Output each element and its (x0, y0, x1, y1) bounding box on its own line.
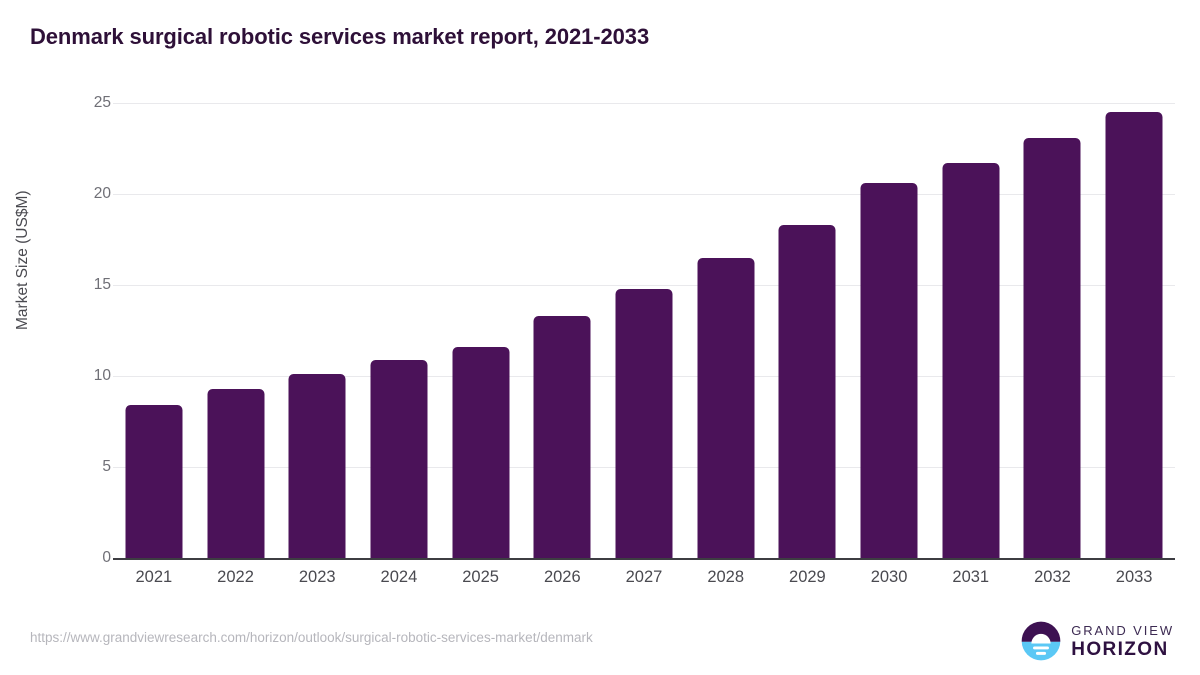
bar-2022[interactable] (207, 389, 264, 558)
bar-slot (113, 103, 195, 558)
bar-2030[interactable] (861, 183, 918, 558)
x-axis-tick-label: 2021 (113, 568, 195, 587)
bar-slot (848, 103, 930, 558)
x-axis-tick-label: 2027 (603, 568, 685, 587)
x-axis-tick-label: 2031 (930, 568, 1012, 587)
bar-slot (1093, 103, 1175, 558)
x-axis-tick-label: 2033 (1093, 568, 1175, 587)
bar-2025[interactable] (452, 347, 509, 558)
y-axis-tick-label: 10 (51, 367, 111, 385)
x-axis-tick-label: 2023 (276, 568, 358, 587)
bar-2029[interactable] (779, 225, 836, 558)
bar-2028[interactable] (697, 258, 754, 558)
bar-2026[interactable] (534, 316, 591, 558)
y-axis-tick-label: 15 (51, 276, 111, 294)
y-axis-tick-label: 20 (51, 185, 111, 203)
bar-2033[interactable] (1106, 112, 1163, 558)
bar-2024[interactable] (370, 360, 427, 558)
bar-slot (1012, 103, 1094, 558)
bar-2032[interactable] (1024, 138, 1081, 558)
x-axis-tick-label: 2028 (685, 568, 767, 587)
bar-2021[interactable] (125, 405, 182, 558)
horizon-circle-icon (1020, 620, 1062, 662)
x-axis-tick-label: 2026 (521, 568, 603, 587)
bar-slot (440, 103, 522, 558)
bar-slot (685, 103, 767, 558)
x-axis-line (113, 558, 1175, 560)
y-axis-tick-label: 25 (51, 94, 111, 112)
bar-series (113, 103, 1175, 558)
bar-2031[interactable] (942, 163, 999, 558)
bar-slot (603, 103, 685, 558)
x-axis-tick-label: 2032 (1012, 568, 1094, 587)
y-axis-tick-label: 5 (51, 458, 111, 476)
chart-page: Denmark surgical robotic services market… (0, 0, 1200, 675)
brand-name-top: GRAND VIEW (1071, 624, 1174, 637)
bar-slot (358, 103, 440, 558)
x-axis-tick-label: 2022 (195, 568, 277, 587)
x-axis-tick-label: 2025 (440, 568, 522, 587)
x-axis-ticks: 2021202220232024202520262027202820292030… (113, 568, 1175, 598)
y-axis-tick-label: 0 (51, 549, 111, 567)
bar-2023[interactable] (289, 374, 346, 558)
source-url[interactable]: https://www.grandviewresearch.com/horizo… (30, 630, 593, 645)
x-axis-tick-label: 2029 (767, 568, 849, 587)
x-axis-tick-label: 2030 (848, 568, 930, 587)
x-axis-tick-label: 2024 (358, 568, 440, 587)
brand-logo: GRAND VIEW HORIZON (1020, 620, 1174, 662)
bar-slot (767, 103, 849, 558)
brand-name-bottom: HORIZON (1071, 640, 1174, 659)
bar-slot (276, 103, 358, 558)
chart-canvas: 0510152025 Market Size (US$M) 2021202220… (0, 0, 1200, 675)
y-axis-title: Market Size (US$M) (14, 190, 32, 330)
brand-logo-text: GRAND VIEW HORIZON (1071, 624, 1174, 659)
bar-slot (930, 103, 1012, 558)
bar-slot (521, 103, 603, 558)
bar-2027[interactable] (615, 289, 672, 558)
bar-slot (195, 103, 277, 558)
